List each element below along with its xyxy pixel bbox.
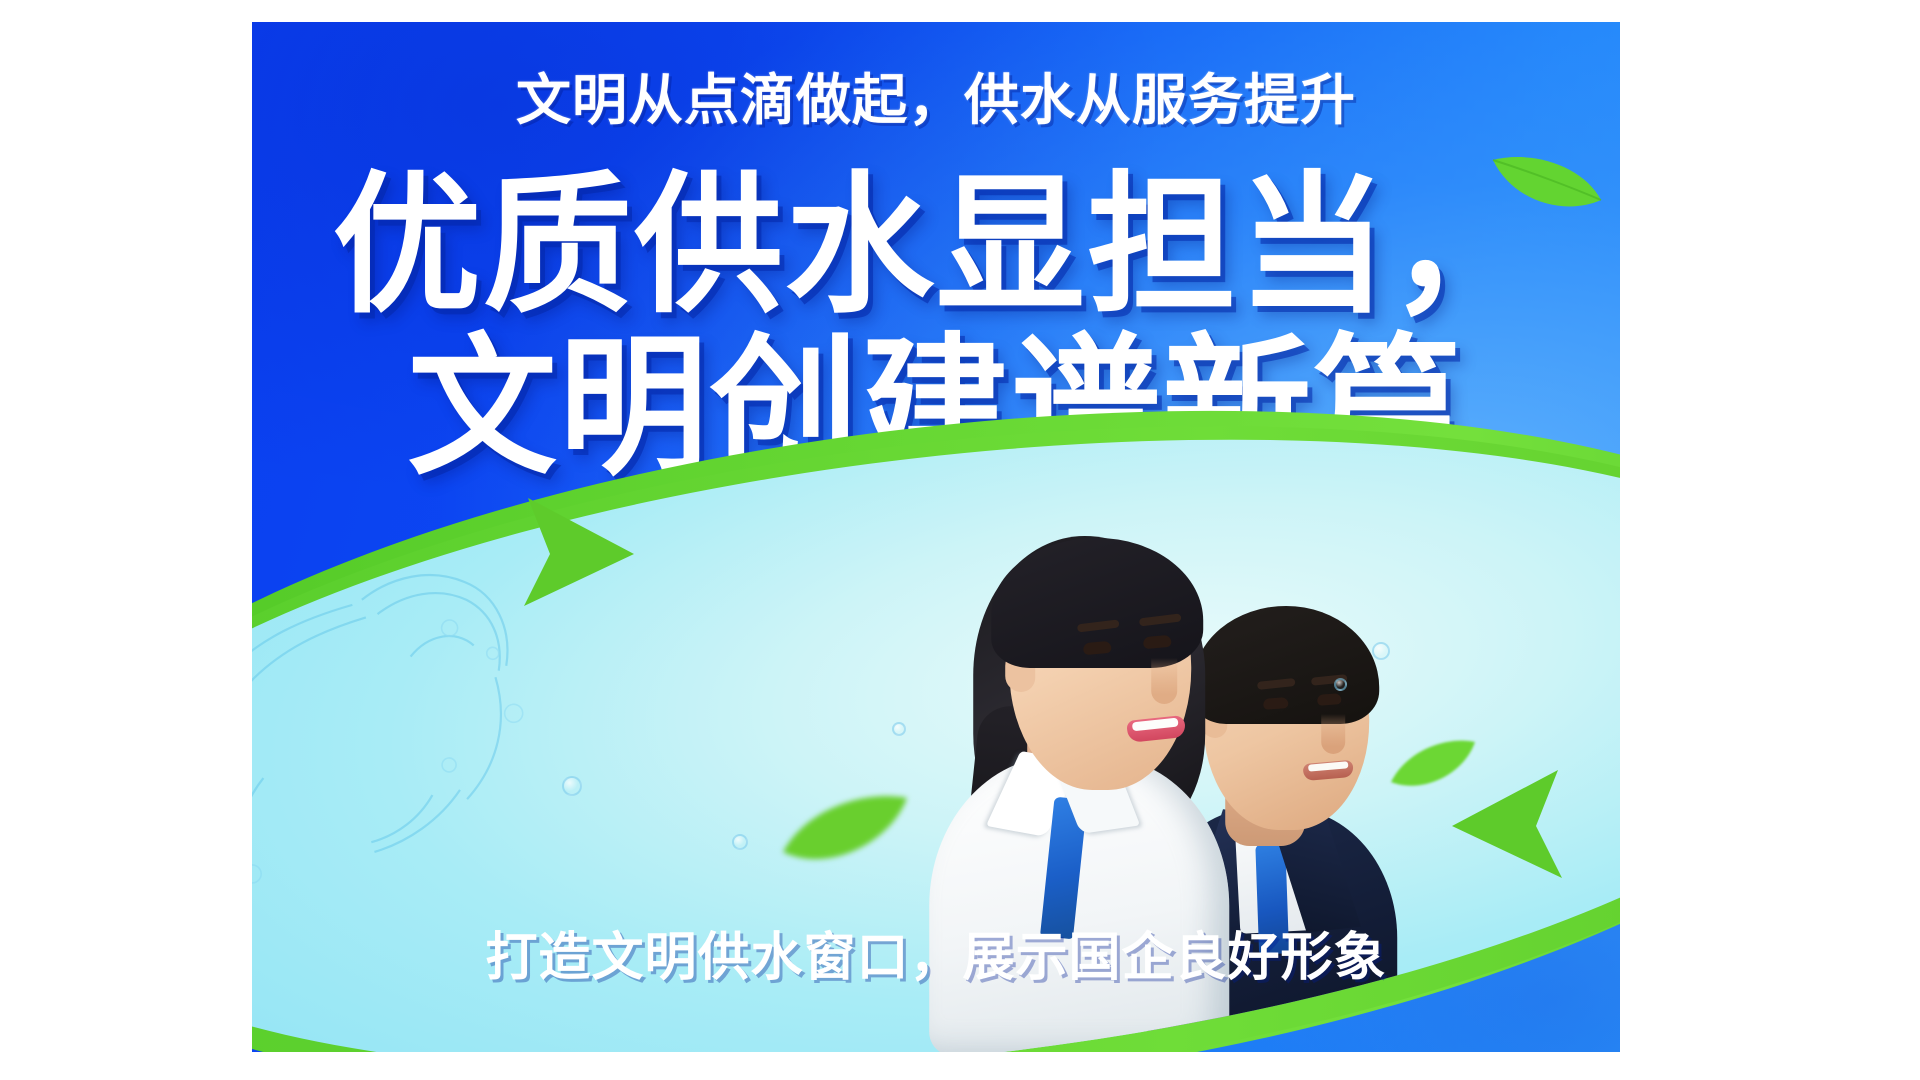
female-eye-left (1083, 641, 1112, 655)
leaf-icon (1387, 736, 1479, 794)
poster-board: 文明从点滴做起，供水从服务提升 优质供水显担当， 文明创建谱新篇 打造文明供水窗… (252, 22, 1620, 1052)
male-eye-left (1263, 697, 1289, 710)
leaf-icon (1487, 144, 1605, 218)
water-bubble (1372, 642, 1390, 660)
water-bubble (1334, 678, 1347, 691)
poster-bottom-caption: 打造文明供水窗口，展示国企良好形象 (252, 915, 1620, 990)
water-bubble (562, 776, 582, 796)
poster-canvas: 文明从点滴做起，供水从服务提升 优质供水显担当， 文明创建谱新篇 打造文明供水窗… (0, 0, 1920, 1080)
male-eye-right (1317, 693, 1342, 706)
water-bubble (732, 834, 748, 850)
male-nose (1321, 714, 1345, 754)
poster-headline-line-1: 优质供水显担当， (266, 170, 1607, 322)
female-nose (1151, 658, 1177, 704)
leaf-icon (779, 790, 911, 870)
chevron-right-arrow-icon (514, 492, 644, 612)
female-eye-right (1143, 635, 1172, 649)
poster-subtitle: 文明从点滴做起，供水从服务提升 (252, 70, 1620, 131)
water-bubble (892, 722, 906, 736)
